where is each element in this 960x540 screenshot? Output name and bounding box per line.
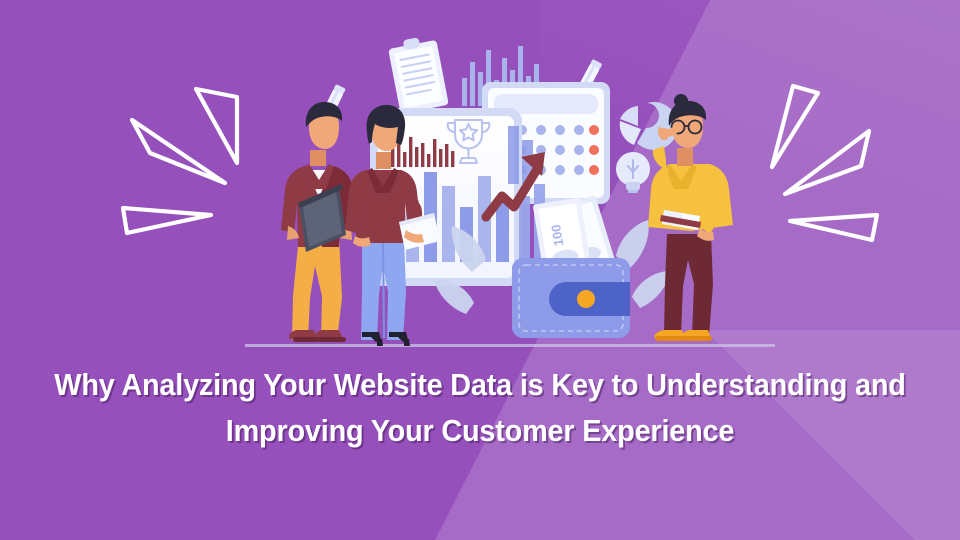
ground-line — [245, 344, 775, 347]
decorative-burst-right — [772, 86, 877, 240]
decorative-burst-left — [123, 89, 237, 233]
clipboard-icon — [387, 34, 449, 114]
banner-image: 100 100 — [0, 0, 960, 540]
pie-chart-icon — [620, 102, 678, 150]
person-man-left — [281, 102, 357, 342]
wallet-icon — [512, 258, 630, 338]
wallet-clasp-button — [577, 290, 595, 308]
illustration: 100 100 — [0, 0, 960, 540]
person-man-right — [648, 94, 733, 341]
lightbulb-icon — [616, 152, 650, 193]
